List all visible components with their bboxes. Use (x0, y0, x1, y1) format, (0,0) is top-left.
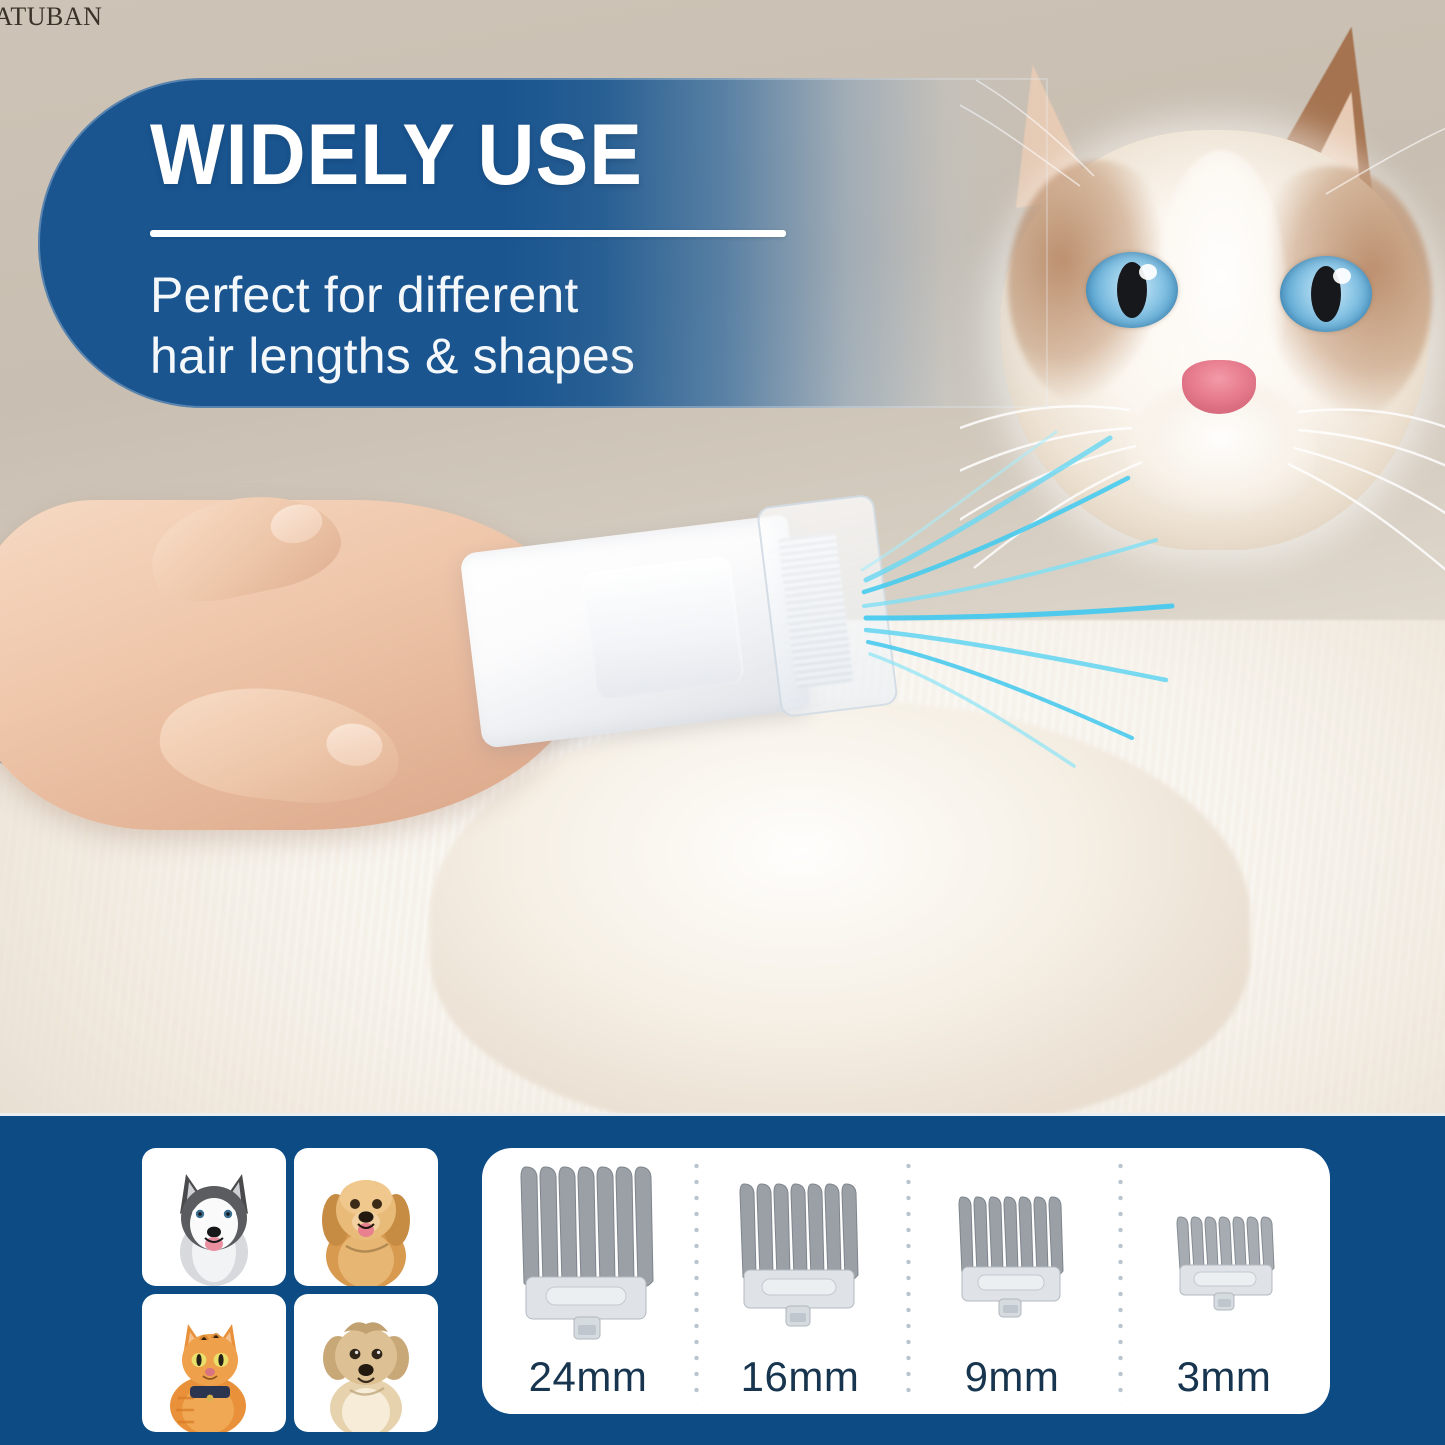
banner-subtitle-line-2: hair lengths & shapes (150, 326, 910, 387)
cat-eye-left (1086, 252, 1178, 328)
clipper-body (459, 514, 810, 749)
clipper-guard-attachment (756, 493, 899, 718)
brand-watermark: ATUBAN (0, 2, 102, 32)
comb-art-9mm (906, 1148, 1118, 1356)
comb-art-24mm (482, 1148, 694, 1356)
comb-art-16mm (694, 1148, 906, 1356)
guard-comb-panel: 24mm (482, 1148, 1330, 1414)
headline-banner: WIDELY USE Perfect for different hair le… (38, 78, 1048, 408)
comb-label-3mm: 3mm (1177, 1356, 1272, 1398)
guard-comb-icon (720, 1170, 880, 1334)
banner-content: WIDELY USE Perfect for different hair le… (150, 112, 910, 387)
terrier-puppy-icon (294, 1294, 438, 1432)
orange-tabby-cat-icon (142, 1294, 286, 1432)
cat-eye-right (1280, 256, 1372, 332)
comb-label-9mm: 9mm (965, 1356, 1060, 1398)
product-marketing-image: ATUBAN WIDELY USE Perfect for different … (0, 0, 1445, 1445)
pet-type-grid (142, 1148, 438, 1432)
pet-tile-orange-cat[interactable] (142, 1294, 286, 1432)
pet-tile-husky[interactable] (142, 1148, 286, 1286)
cat-chest-fur (430, 700, 1250, 1113)
cat-ear-left (967, 0, 1102, 2)
footer-strip: 24mm (0, 1113, 1445, 1445)
banner-title: WIDELY USE (150, 112, 849, 200)
guard-comb-icon (942, 1179, 1082, 1325)
comb-label-16mm: 16mm (741, 1356, 860, 1398)
banner-subtitle: Perfect for different hair lengths & sha… (150, 265, 910, 387)
comb-item-16mm[interactable]: 16mm (694, 1148, 906, 1414)
pet-tile-golden-retriever[interactable] (294, 1148, 438, 1286)
pet-tile-terrier-puppy[interactable] (294, 1294, 438, 1432)
husky-icon (142, 1148, 286, 1286)
banner-subtitle-line-1: Perfect for different (150, 265, 910, 326)
golden-retriever-icon (294, 1148, 438, 1286)
banner-divider (150, 230, 786, 237)
comb-item-3mm[interactable]: 3mm (1118, 1148, 1330, 1414)
guard-comb-icon (1162, 1187, 1286, 1317)
comb-item-9mm[interactable]: 9mm (906, 1148, 1118, 1414)
comb-label-24mm: 24mm (529, 1356, 648, 1398)
guard-comb-icon (498, 1159, 678, 1345)
comb-item-24mm[interactable]: 24mm (482, 1148, 694, 1414)
comb-art-3mm (1118, 1148, 1330, 1356)
